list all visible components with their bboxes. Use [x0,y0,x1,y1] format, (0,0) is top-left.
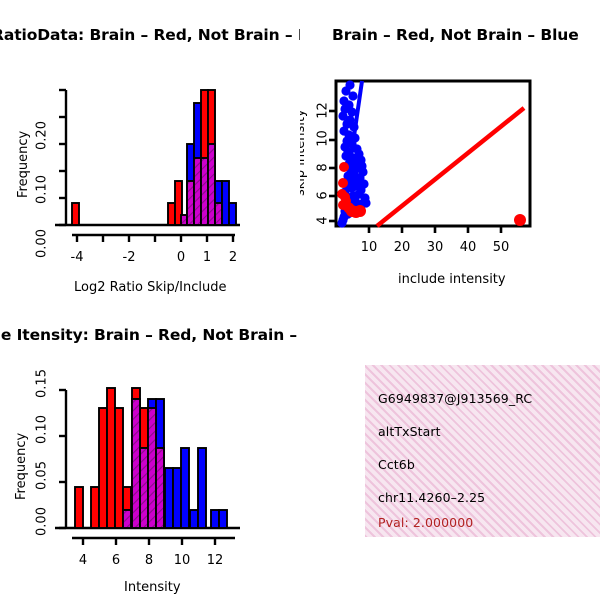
infobox-line-locus: chr11.4260–2.25 [378,490,485,505]
scatter-plot [300,48,600,278]
scatter-xtick-40: 40 [455,240,481,255]
ratio-ytick-0.00: 0.00 [35,224,50,264]
scatter-xtick-20: 20 [389,240,415,255]
intensity-xtick-8: 8 [136,553,162,568]
ratio-histogram-title: RatioData: Brain – Red, Not Brain – Blu [0,26,300,44]
ratio-xlabel: Log2 Ratio Skip/Include [74,280,226,295]
infobox-line-pval: Pval: 2.000000 [378,515,473,530]
intensity-xtick-6: 6 [103,553,129,568]
intensity-ytick-0.00: 0.00 [35,500,50,544]
scatter-title: Brain – Red, Not Brain – Blue [332,26,579,44]
ratio-ytick-0.10: 0.10 [35,170,50,210]
panel-scatter: Brain – Red, Not Brain – Blue [300,18,600,318]
intensity-histogram-title: ne Itensity: Brain – Red, Not Brain – B [0,326,300,344]
intensity-xtick-12: 12 [202,553,228,568]
panel-infobox: G6949837@J913569_RC altTxStart Cct6b chr… [300,318,600,600]
ratio-ytick-0.20: 0.20 [35,116,50,156]
gene-info-box: G6949837@J913569_RC altTxStart Cct6b chr… [365,365,600,537]
ratio-xtick-2: 2 [220,250,246,265]
intensity-ytick-0.15: 0.15 [35,362,50,406]
ratio-xtick--2: -2 [116,250,142,265]
infobox-line-event: altTxStart [378,424,441,439]
intensity-ytick-0.05: 0.05 [35,454,50,498]
infobox-line-probe: G6949837@J913569_RC [378,391,532,406]
scatter-xtick-10: 10 [356,240,382,255]
panel-intensity-histogram: ne Itensity: Brain – Red, Not Brain – B [0,318,300,600]
intensity-xlabel: Intensity [124,580,181,595]
ratio-xtick-0: 0 [168,250,194,265]
ratio-xtick-1: 1 [194,250,220,265]
scatter-ylabel: skip intensity [300,109,308,196]
intensity-xtick-10: 10 [169,553,195,568]
panel-ratio-histogram: RatioData: Brain – Red, Not Brain – Blu [0,18,300,318]
intensity-ylabel: Frequency [14,433,29,500]
intensity-ytick-0.10: 0.10 [35,408,50,452]
scatter-xlabel: include intensity [398,272,506,287]
scatter-ytick-4: 4 [316,201,331,241]
ratio-ylabel: Frequency [16,131,31,198]
scatter-xtick-50: 50 [488,240,514,255]
infobox-line-gene: Cct6b [378,457,415,472]
ratio-xtick--4: -4 [64,250,90,265]
scatter-xtick-30: 30 [422,240,448,255]
intensity-xtick-4: 4 [70,553,96,568]
